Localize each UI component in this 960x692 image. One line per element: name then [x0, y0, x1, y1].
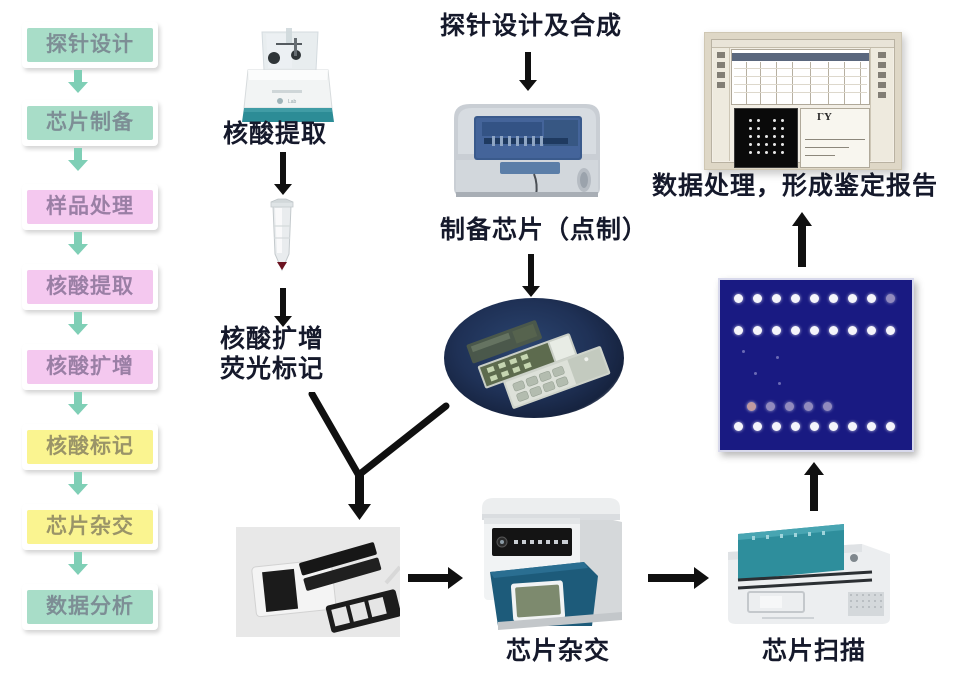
caption-chip-scanning: 芯片扫描 — [762, 637, 866, 667]
flow-connector-arrow — [66, 392, 90, 416]
flow-step-probe-design[interactable]: 探针设计 — [22, 22, 158, 68]
array-spot — [810, 422, 819, 431]
flow-connector-arrow — [66, 232, 90, 256]
microcentrifuge-tube-device — [262, 198, 302, 284]
diagram-canvas: 探针设计 芯片制备 样品处理 核酸提取 核酸扩增 核酸标记 — [0, 0, 960, 692]
array-spot — [886, 422, 895, 431]
arrow-down-to-chip-slides — [520, 254, 542, 298]
toolbar-icon — [717, 82, 725, 88]
caption-probe-design-synthesis: 探针设计及合成 — [440, 12, 622, 42]
software-data-table — [731, 49, 870, 105]
caption-chip-hybridization: 芯片杂交 — [506, 637, 610, 667]
array-spot — [823, 402, 832, 411]
flow-step-label: 核酸标记 — [27, 430, 153, 464]
array-spot — [804, 402, 813, 411]
array-spot — [734, 422, 743, 431]
flow-step-data-analysis[interactable]: 数据分析 — [22, 584, 158, 630]
array-spot — [753, 294, 762, 303]
software-right-toolbar — [870, 48, 893, 161]
toolbar-icon — [717, 72, 725, 78]
array-spot — [747, 402, 756, 411]
array-spot — [753, 326, 762, 335]
array-spot — [829, 326, 838, 335]
array-spot — [886, 326, 895, 335]
array-spot — [886, 294, 895, 303]
flow-step-label: 样品处理 — [27, 190, 153, 224]
array-spot — [810, 326, 819, 335]
chip-scanner-device — [722, 518, 894, 630]
array-spot — [772, 422, 781, 431]
array-spot — [867, 422, 876, 431]
software-detail-pane: ГY — [800, 108, 870, 168]
flow-step-nucleic-acid-labeling[interactable]: 核酸标记 — [22, 424, 158, 470]
array-spot — [829, 294, 838, 303]
caption-data-report: 数据处理，形成鉴定报告 — [652, 172, 938, 202]
arrow-up-to-data-report — [790, 212, 814, 268]
flow-connector-arrow — [66, 552, 90, 576]
array-spot — [791, 422, 800, 431]
array-spot — [734, 294, 743, 303]
array-spot — [867, 326, 876, 335]
microarray-spotter-device — [448, 92, 608, 207]
array-speck — [776, 356, 779, 359]
flow-connector-arrow — [66, 70, 90, 94]
microarray-result-panel — [718, 278, 914, 452]
array-spot — [848, 294, 857, 303]
flow-step-label: 探针设计 — [27, 28, 153, 62]
toolbar-icon — [878, 82, 886, 88]
flow-connector-arrow — [66, 472, 90, 496]
array-spot — [766, 402, 775, 411]
chip-slides-device — [444, 298, 624, 418]
array-spot — [867, 294, 876, 303]
analysis-software-screenshot: ГY — [704, 32, 902, 170]
array-spot — [848, 326, 857, 335]
array-speck — [778, 382, 781, 385]
toolbar-icon — [717, 52, 725, 58]
arrow-down-to-tube — [272, 152, 294, 196]
caption-amplification-line2: 荧光标记 — [220, 355, 350, 385]
nucleic-acid-extractor-device: Lab — [232, 22, 344, 130]
flow-step-label: 芯片杂交 — [27, 510, 153, 544]
toolbar-icon — [878, 92, 886, 98]
array-spot — [791, 294, 800, 303]
table-header-band — [732, 53, 869, 61]
flow-connector-arrow — [66, 148, 90, 172]
array-spot — [785, 402, 794, 411]
toolbar-icon — [878, 52, 886, 58]
arrow-right-to-scanner — [648, 565, 710, 591]
svg-text:Lab: Lab — [288, 99, 297, 105]
flow-connector-arrow — [66, 312, 90, 336]
software-array-image-panel — [734, 108, 798, 168]
array-spot — [772, 294, 781, 303]
array-spot — [810, 294, 819, 303]
toolbar-icon — [878, 62, 886, 68]
slides-tray-device — [236, 527, 400, 637]
flow-step-nucleic-acid-extraction[interactable]: 核酸提取 — [22, 264, 158, 310]
caption-nucleic-acid-extraction: 核酸提取 — [223, 120, 327, 150]
array-speck — [742, 350, 745, 353]
array-spot — [848, 422, 857, 431]
software-left-toolbar — [713, 48, 730, 161]
software-window-frame: ГY — [711, 39, 895, 163]
caption-chip-fabrication: 制备芯片（点制） — [440, 216, 648, 246]
array-spot — [829, 422, 838, 431]
hybridization-station-device — [476, 494, 628, 632]
flow-step-nucleic-acid-amplification[interactable]: 核酸扩增 — [22, 344, 158, 390]
flow-step-label: 核酸扩增 — [27, 350, 153, 384]
flow-step-sample-processing[interactable]: 样品处理 — [22, 184, 158, 230]
flow-step-label: 数据分析 — [27, 590, 153, 624]
array-spot — [753, 422, 762, 431]
caption-amplification-line1: 核酸扩增 — [220, 325, 350, 355]
arrow-right-to-hyb-station — [408, 565, 464, 591]
software-title-bar — [712, 40, 894, 48]
arrow-up-to-microarray — [802, 462, 826, 512]
arrow-down-to-arrayer — [517, 52, 539, 92]
array-speck — [754, 372, 757, 375]
flow-step-label: 核酸提取 — [27, 270, 153, 304]
caption-amplification: 核酸扩增 荧光标记 — [220, 325, 350, 384]
arrow-down-to-amplification — [272, 288, 294, 328]
array-spot — [791, 326, 800, 335]
array-spot — [772, 326, 781, 335]
array-spot — [734, 326, 743, 335]
toolbar-icon — [717, 62, 725, 68]
flow-step-label: 芯片制备 — [27, 106, 153, 140]
flow-step-chip-preparation[interactable]: 芯片制备 — [22, 100, 158, 146]
flow-step-chip-hybridization[interactable]: 芯片杂交 — [22, 504, 158, 550]
toolbar-icon — [878, 72, 886, 78]
arrow-converge-y — [300, 392, 460, 522]
